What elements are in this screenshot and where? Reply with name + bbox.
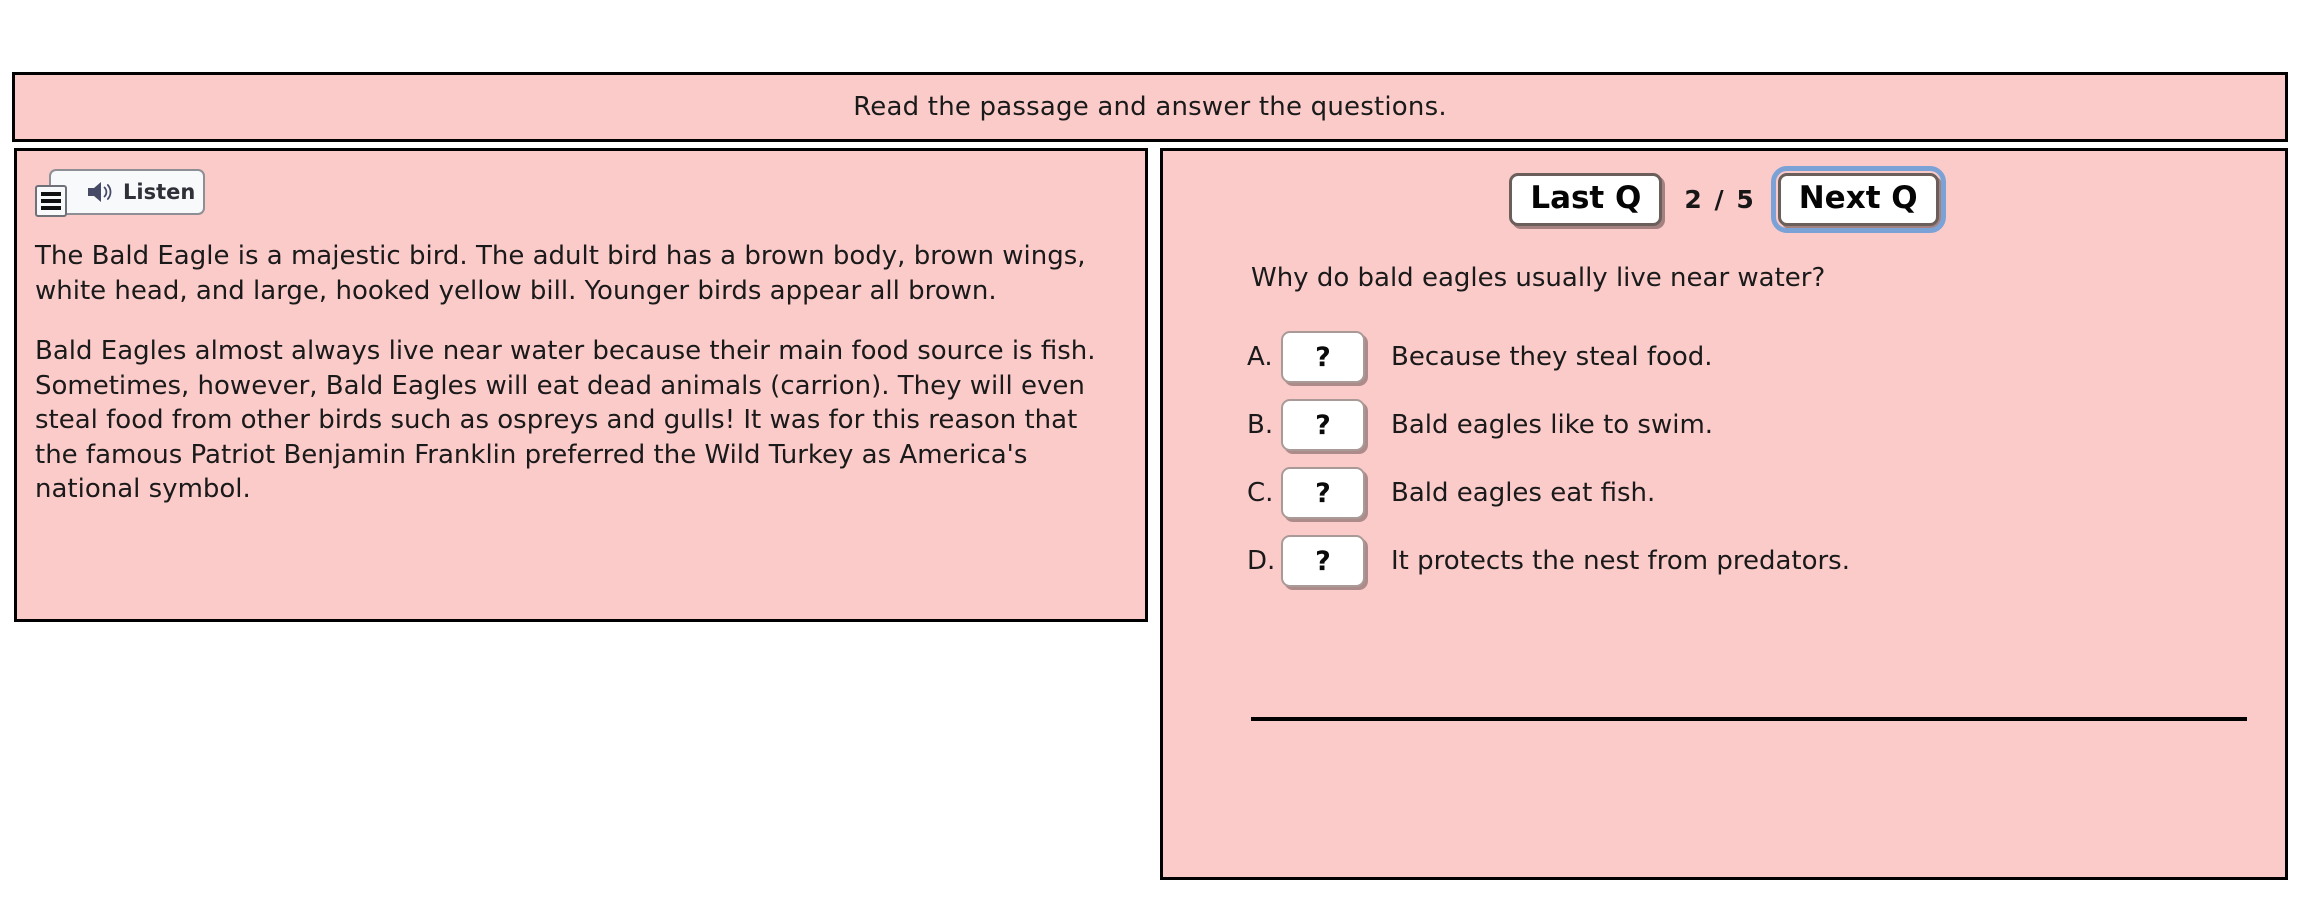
- instruction-banner: Read the passage and answer the question…: [12, 72, 2288, 142]
- instruction-text: Read the passage and answer the question…: [853, 92, 1447, 122]
- listen-button[interactable]: Listen: [49, 169, 205, 215]
- menu-icon-bar: [41, 192, 61, 196]
- passage-paragraph: Bald Eagles almost always live near wate…: [35, 334, 1125, 507]
- answer-option-d[interactable]: D. ? It protects the nest from predators…: [1247, 527, 2255, 595]
- listen-button-label: Listen: [123, 182, 195, 203]
- passage-paragraph: The Bald Eagle is a majestic bird. The a…: [35, 239, 1125, 308]
- answer-marker-button[interactable]: ?: [1281, 535, 1365, 587]
- answer-marker-button[interactable]: ?: [1281, 399, 1365, 451]
- next-question-button[interactable]: Next Q: [1778, 173, 1939, 226]
- answer-letter: C.: [1247, 478, 1281, 508]
- menu-icon[interactable]: [35, 185, 67, 217]
- answer-marker-button[interactable]: ?: [1281, 331, 1365, 383]
- question-navigation: Last Q 2 / 5 Next Q: [1163, 173, 2285, 226]
- question-counter: 2 / 5: [1684, 185, 1755, 214]
- question-prompt: Why do bald eagles usually live near wat…: [1251, 263, 1825, 293]
- answer-options-list: A. ? Because they steal food. B. ? Bald …: [1247, 323, 2255, 595]
- answer-letter: A.: [1247, 342, 1281, 372]
- answer-text: Bald eagles eat fish.: [1391, 478, 1655, 508]
- listen-control-group: Listen: [35, 169, 205, 217]
- answer-option-b[interactable]: B. ? Bald eagles like to swim.: [1247, 391, 2255, 459]
- answer-marker-button[interactable]: ?: [1281, 467, 1365, 519]
- answer-text: Bald eagles like to swim.: [1391, 410, 1713, 440]
- passage-text-body: The Bald Eagle is a majestic bird. The a…: [35, 239, 1127, 507]
- speaker-icon: [87, 180, 114, 204]
- previous-question-button[interactable]: Last Q: [1509, 173, 1662, 226]
- passage-panel: Listen The Bald Eagle is a majestic bird…: [14, 148, 1148, 622]
- menu-icon-bar: [41, 206, 61, 210]
- answer-text: Because they steal food.: [1391, 342, 1713, 372]
- answer-section-divider: [1251, 717, 2247, 721]
- menu-icon-bar: [41, 199, 61, 203]
- answer-option-c[interactable]: C. ? Bald eagles eat fish.: [1247, 459, 2255, 527]
- answer-letter: B.: [1247, 410, 1281, 440]
- answer-option-a[interactable]: A. ? Because they steal food.: [1247, 323, 2255, 391]
- answer-text: It protects the nest from predators.: [1391, 546, 1850, 576]
- answer-letter: D.: [1247, 546, 1281, 576]
- question-panel: Last Q 2 / 5 Next Q Why do bald eagles u…: [1160, 148, 2288, 880]
